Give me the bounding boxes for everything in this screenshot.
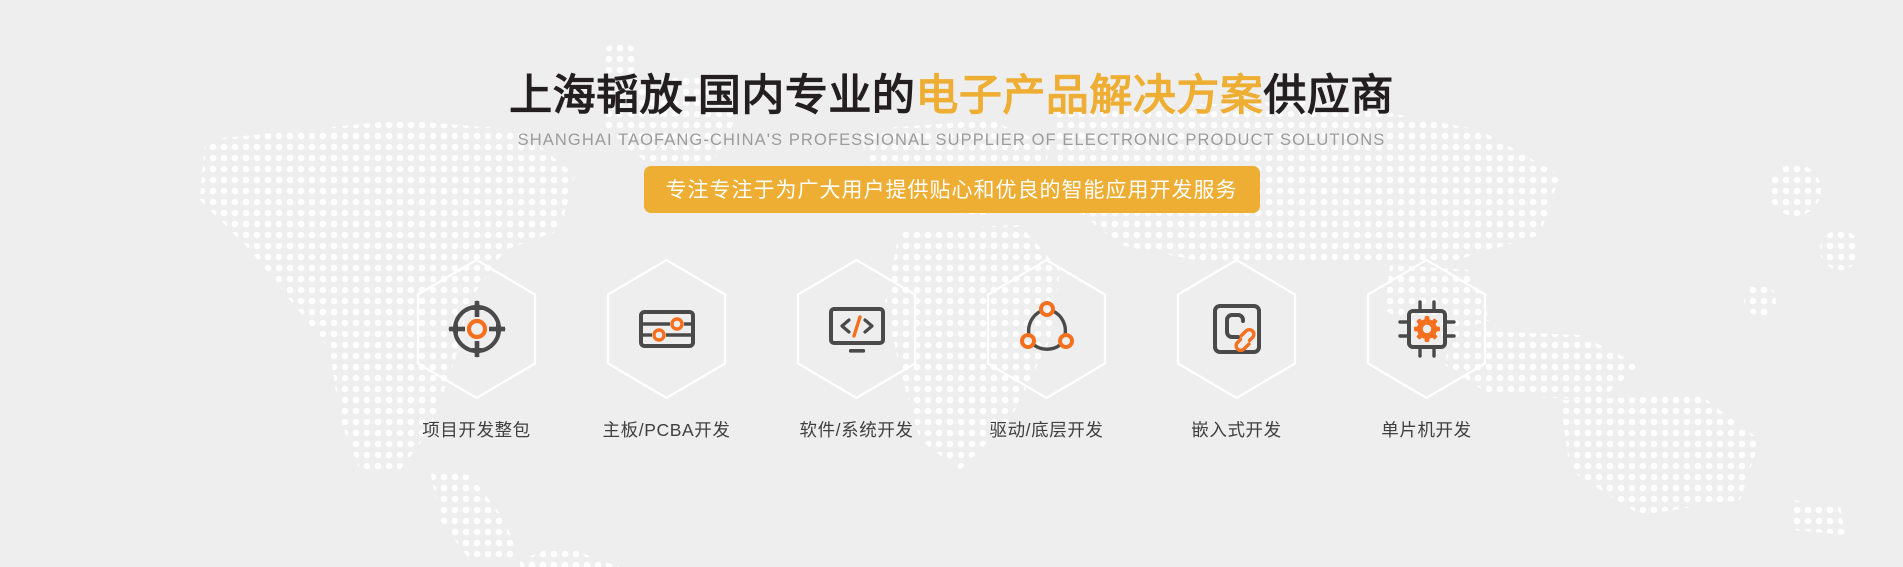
node-network-icon — [1015, 297, 1079, 361]
feature-label: 嵌入式开发 — [1191, 417, 1282, 442]
hexagon-frame — [414, 258, 539, 400]
monitor-code-icon — [825, 297, 889, 361]
circuit-board-icon — [635, 297, 699, 361]
tagline-badge: 专注专注于为广大用户提供贴心和优良的智能应用开发服务 — [644, 166, 1260, 213]
feature-item-project-package[interactable]: 项目开发整包 — [393, 258, 561, 442]
hero-banner: 上海韬放-国内专业的电子产品解决方案供应商 SHANGHAI TAOFANG-C… — [0, 0, 1903, 567]
feature-list: 项目开发整包 主板/PCBA开发 — [393, 258, 1511, 442]
english-subtitle: SHANGHAI TAOFANG-CHINA'S PROFESSIONAL SU… — [0, 131, 1903, 150]
page-title: 上海韬放-国内专业的电子产品解决方案供应商 — [0, 72, 1903, 120]
feature-item-embedded[interactable]: 嵌入式开发 — [1153, 258, 1321, 442]
feature-label: 软件/系统开发 — [799, 417, 913, 442]
mcu-gear-icon — [1395, 297, 1459, 361]
feature-label: 项目开发整包 — [422, 417, 531, 442]
tagline-badge-wrap: 专注专注于为广大用户提供贴心和优良的智能应用开发服务 — [0, 166, 1903, 213]
title-part-1: 上海韬放-国内专业的 — [509, 72, 915, 120]
hexagon-frame — [984, 258, 1109, 400]
hexagon-frame — [604, 258, 729, 400]
hexagon-frame — [794, 258, 919, 400]
feature-item-pcba[interactable]: 主板/PCBA开发 — [583, 258, 751, 442]
feature-label: 驱动/底层开发 — [989, 417, 1103, 442]
title-highlight: 电子产品解决方案 — [915, 72, 1263, 120]
crosshair-target-icon — [445, 297, 509, 361]
feature-item-software[interactable]: 软件/系统开发 — [773, 258, 941, 442]
feature-item-mcu[interactable]: 单片机开发 — [1343, 258, 1511, 442]
title-part-2: 供应商 — [1263, 72, 1394, 120]
embedded-chip-link-icon — [1205, 297, 1269, 361]
feature-item-driver[interactable]: 驱动/底层开发 — [963, 258, 1131, 442]
hexagon-frame — [1174, 258, 1299, 400]
hexagon-frame — [1364, 258, 1489, 400]
feature-label: 主板/PCBA开发 — [603, 417, 731, 442]
headline-block: 上海韬放-国内专业的电子产品解决方案供应商 SHANGHAI TAOFANG-C… — [0, 72, 1903, 213]
feature-label: 单片机开发 — [1381, 417, 1472, 442]
